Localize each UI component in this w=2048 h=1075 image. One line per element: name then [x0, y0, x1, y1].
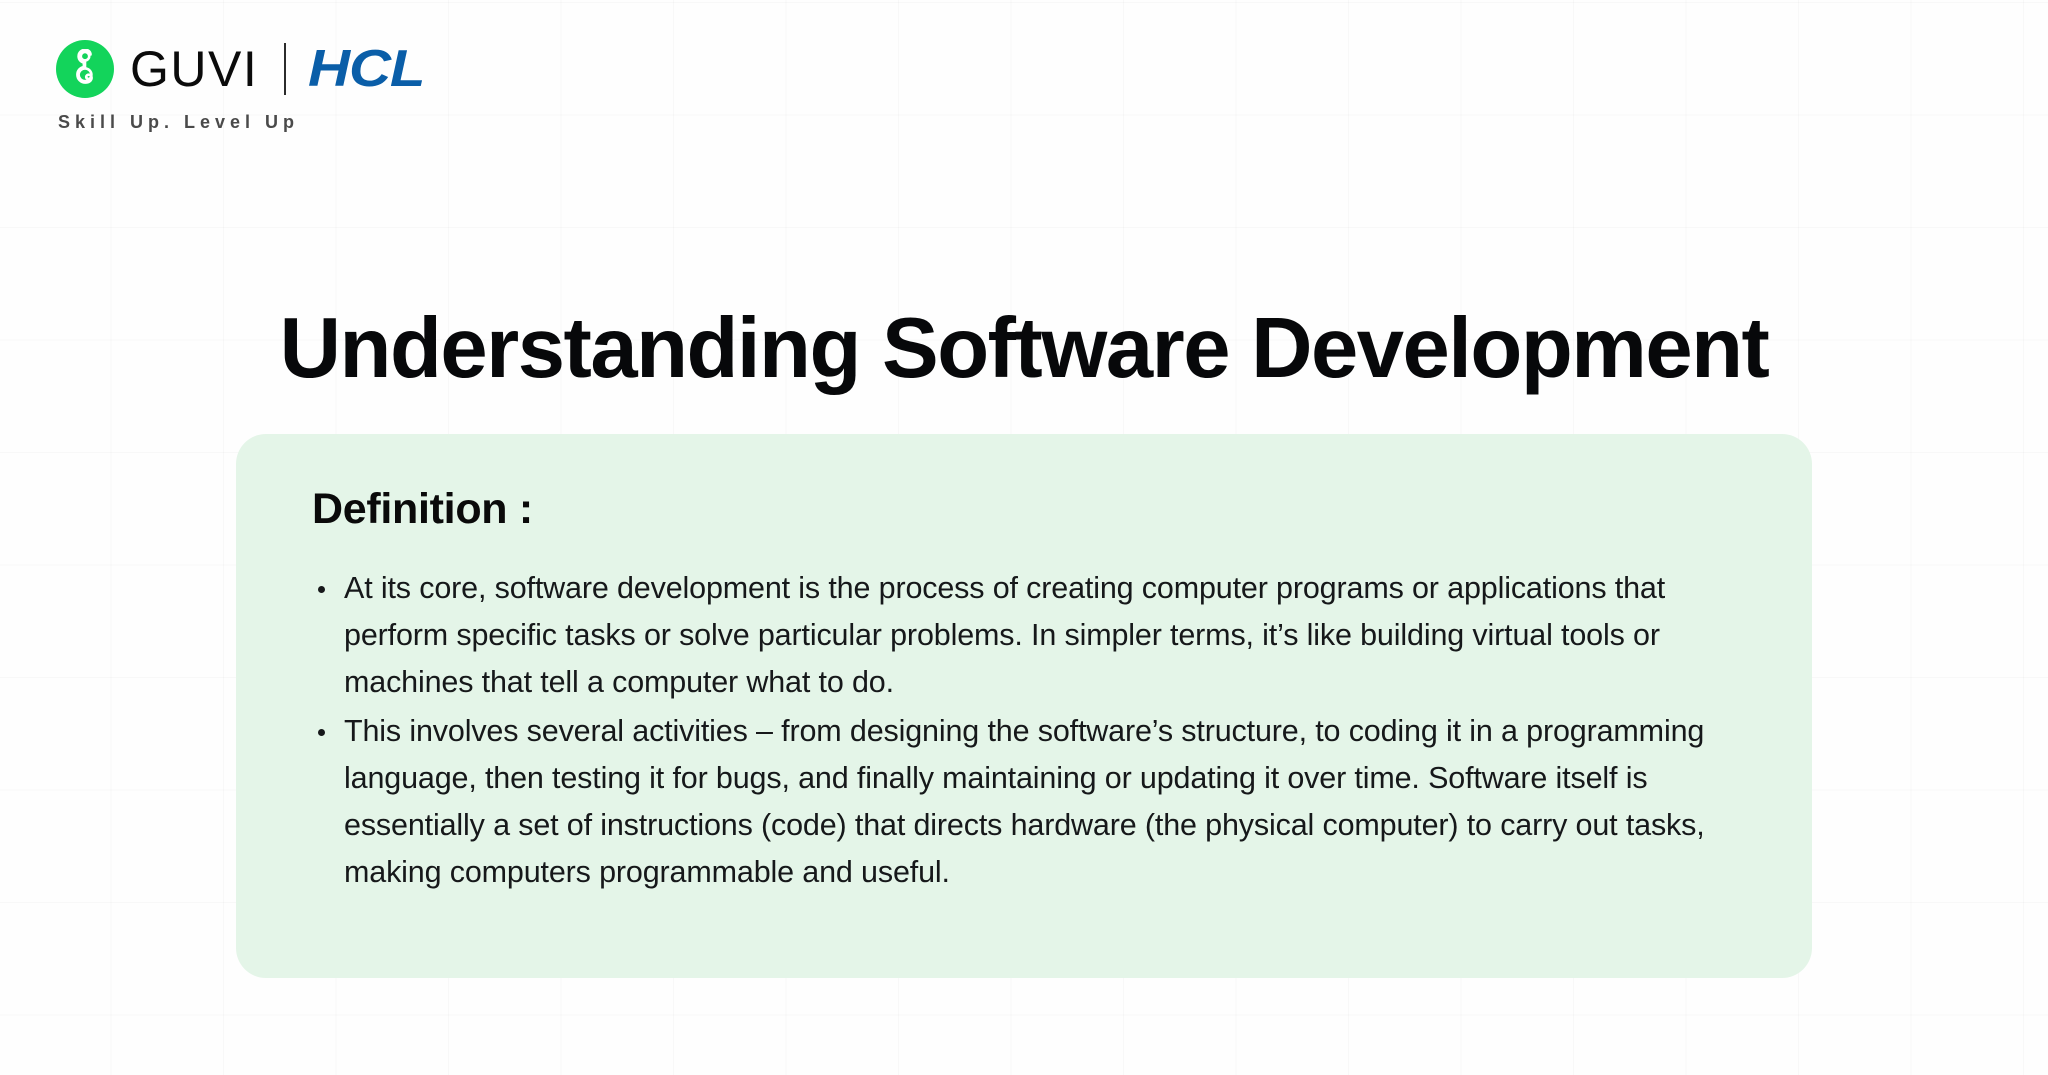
list-item: This involves several activities – from … — [312, 708, 1752, 896]
brand-tagline: Skill Up. Level Up — [58, 112, 299, 133]
page-title: Understanding Software Development — [0, 304, 2048, 393]
definition-heading: Definition : — [312, 486, 1752, 533]
definition-bullet-list: At its core, software development is the… — [312, 565, 1752, 896]
brand-divider — [284, 43, 286, 95]
brand-lockup: GUVI HCL Skill Up. Level Up — [56, 38, 412, 133]
definition-card: Definition : At its core, software devel… — [236, 434, 1812, 978]
slide-canvas: GUVI HCL Skill Up. Level Up Understandin… — [0, 0, 2048, 1075]
guvi-logo-icon — [56, 40, 114, 98]
list-item: At its core, software development is the… — [312, 565, 1752, 706]
brand-logo-row: GUVI HCL — [56, 38, 412, 100]
hcl-wordmark: HCL — [308, 43, 424, 95]
guvi-wordmark: GUVI — [130, 44, 258, 94]
